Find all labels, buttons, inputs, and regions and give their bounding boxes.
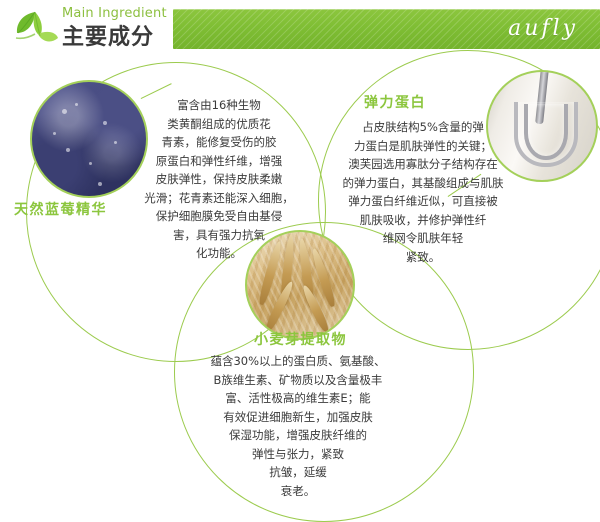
header-green-bar: aufly [173,9,600,49]
whisk-cage-inner-icon [524,104,569,160]
page-header: Main Ingredient 主要成分 aufly [0,0,600,56]
section-text-elastin: 占皮肤结构5%含量的弹 力蛋白是肌肤弹性的关键； 澳芙园选用寡肽分子结构存在 的… [330,118,516,266]
leaf-icon [8,8,62,50]
section-text-wheat: 蕴含30%以上的蛋白质、氨基酸、 B族维生素、矿物质以及含量极丰 富、活性极高的… [197,352,399,500]
brand-logo: aufly [508,17,578,41]
section-label-elastin: 弹力蛋白 [364,92,426,112]
section-text-blueberry: 富含由16种生物 类黄酮组成的优质花 青素，能修复受伤的胶 原蛋白和弹性纤维，增… [126,96,312,263]
section-label-wheat: 小麦芽提取物 [254,329,347,349]
section-label-blueberry: 天然蓝莓精华 [14,199,107,219]
